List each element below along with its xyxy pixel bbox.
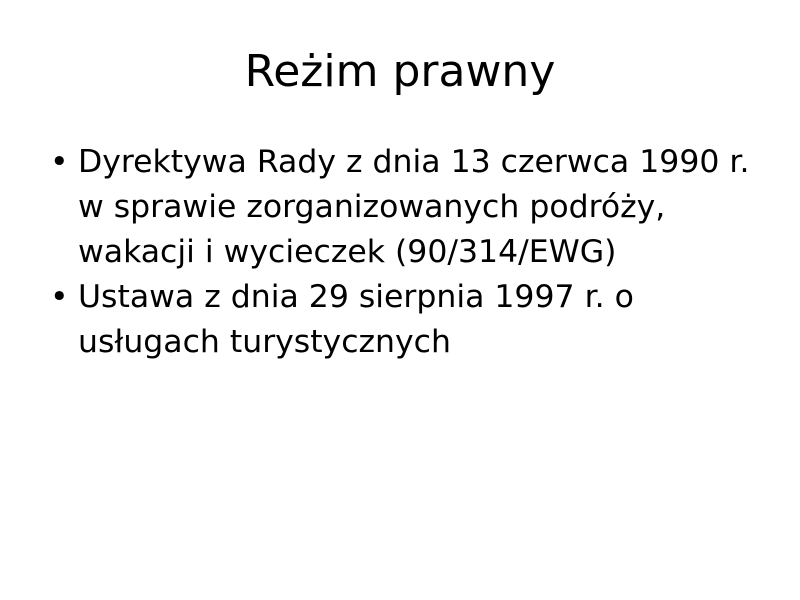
bullet-text: Dyrektywa Rady z dnia 13 czerwca 1990 r.… [78,140,756,275]
slide-title: Reżim prawny [0,44,800,100]
list-item: • Ustawa z dnia 29 sierpnia 1997 r. o us… [40,275,756,365]
list-item: • Dyrektywa Rady z dnia 13 czerwca 1990 … [40,140,756,275]
slide-body: • Dyrektywa Rady z dnia 13 czerwca 1990 … [40,140,756,365]
bullet-text: Ustawa z dnia 29 sierpnia 1997 r. o usłu… [78,275,756,365]
bullet-point-icon: • [50,140,70,185]
bullet-list: • Dyrektywa Rady z dnia 13 czerwca 1990 … [40,140,756,365]
bullet-point-icon: • [50,275,70,320]
presentation-slide: Reżim prawny • Dyrektywa Rady z dnia 13 … [0,0,800,600]
